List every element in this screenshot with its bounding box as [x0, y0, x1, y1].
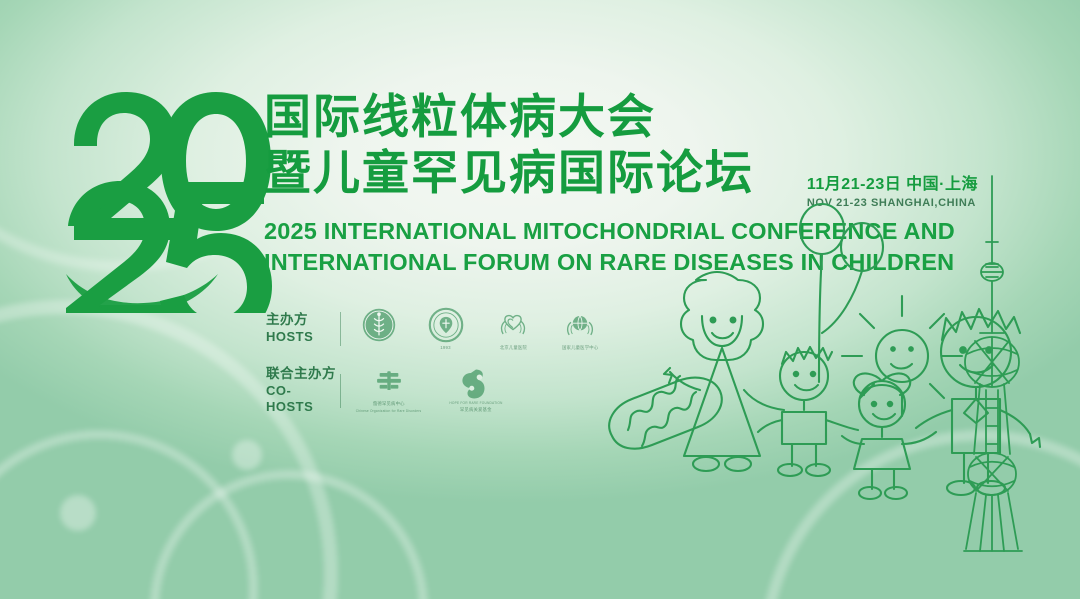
cohosts-row: 联合主办方 CO-HOSTS 蔻德罕见病中心 Chinese Organizat… [266, 365, 607, 417]
cohosts-label-chinese: 联合主办方 [266, 366, 338, 383]
host-logo-caption: 国家儿童医学中心 [562, 345, 598, 350]
cord-rare-disease-emblem-icon [372, 369, 406, 399]
host-logo-caption: 北京儿童医院 [499, 345, 526, 350]
cohost-logo-caption-cn: 罕见病关爱基金 [460, 407, 492, 412]
watermark-dot [60, 495, 96, 531]
date-location-chinese: 11月21-23日 中国·上海 [807, 170, 978, 194]
host-logo-item: 1993 [419, 307, 473, 351]
title-english-block: 2025 INTERNATIONAL MITOCHONDRIAL CONFERE… [264, 216, 984, 279]
date-location-block: 11月21-23日 中国·上海 NOV 21-23 SHANGHAI,CHINA [807, 170, 978, 209]
globe-wreath-emblem-icon [562, 307, 598, 343]
host-logo-caption: 1993 [441, 345, 451, 350]
divider [340, 312, 341, 346]
hosts-label-chinese: 主办方 [266, 312, 338, 329]
cohost-logo-caption-en: HOPE FOR RARE FOUNDATION [449, 401, 502, 405]
cohosts-label-english: CO-HOSTS [266, 383, 338, 416]
title-chinese-line-1: 国际线粒体病大会 [264, 92, 984, 142]
host-logo-item: 国家儿童医学中心 [553, 307, 607, 351]
watermark-arc [486, 0, 1080, 576]
watermark-circle [0, 430, 258, 599]
year-2025-graphic [62, 78, 277, 313]
date-location-english: NOV 21-23 SHANGHAI,CHINA [807, 197, 978, 209]
cohosts-label: 联合主办方 CO-HOSTS [266, 366, 338, 415]
sponsor-section: 主办方 HOSTS 1993 [266, 303, 607, 417]
conference-banner: 国际线粒体病大会 暨儿童罕见病国际论坛 11月21-23日 中国·上海 NOV … [0, 0, 1080, 599]
watermark-circle [150, 470, 428, 599]
hosts-label: 主办方 HOSTS [266, 312, 338, 345]
cohosts-logo-list: 蔻德罕见病中心 Chinese Organization for Rare Di… [352, 369, 513, 413]
host-logo-item: 北京儿童医院 [486, 307, 540, 351]
heart-wreath-emblem-icon [495, 307, 531, 343]
hosts-logo-list: 1993 北京儿童医院 国家儿童医学中心 [352, 307, 607, 351]
hope-for-rare-foundation-emblem-icon [459, 369, 493, 399]
hospital-shield-emblem-icon [428, 307, 464, 343]
watermark-dot [232, 440, 262, 470]
headline-block: 国际线粒体病大会 暨儿童罕见病国际论坛 11月21-23日 中国·上海 NOV … [264, 92, 984, 278]
hosts-row: 主办方 HOSTS 1993 [266, 303, 607, 355]
hosts-label-english: HOSTS [266, 329, 338, 345]
cohost-logo-item: HOPE FOR RARE FOUNDATION 罕见病关爱基金 [439, 369, 513, 413]
title-english-line-1: 2025 INTERNATIONAL MITOCHONDRIAL CONFERE… [264, 216, 984, 247]
host-logo-item [352, 307, 406, 345]
cohost-logo-caption-en: Chinese Organization for Rare Disorders [356, 409, 422, 413]
cohost-logo-caption-cn: 蔻德罕见病中心 [373, 401, 405, 406]
divider [340, 374, 341, 408]
cohost-logo-item: 蔻德罕见病中心 Chinese Organization for Rare Di… [352, 369, 426, 413]
title-english-line-2: INTERNATIONAL FORUM ON RARE DISEASES IN … [264, 247, 984, 278]
medical-caduceus-emblem-icon [361, 307, 397, 343]
